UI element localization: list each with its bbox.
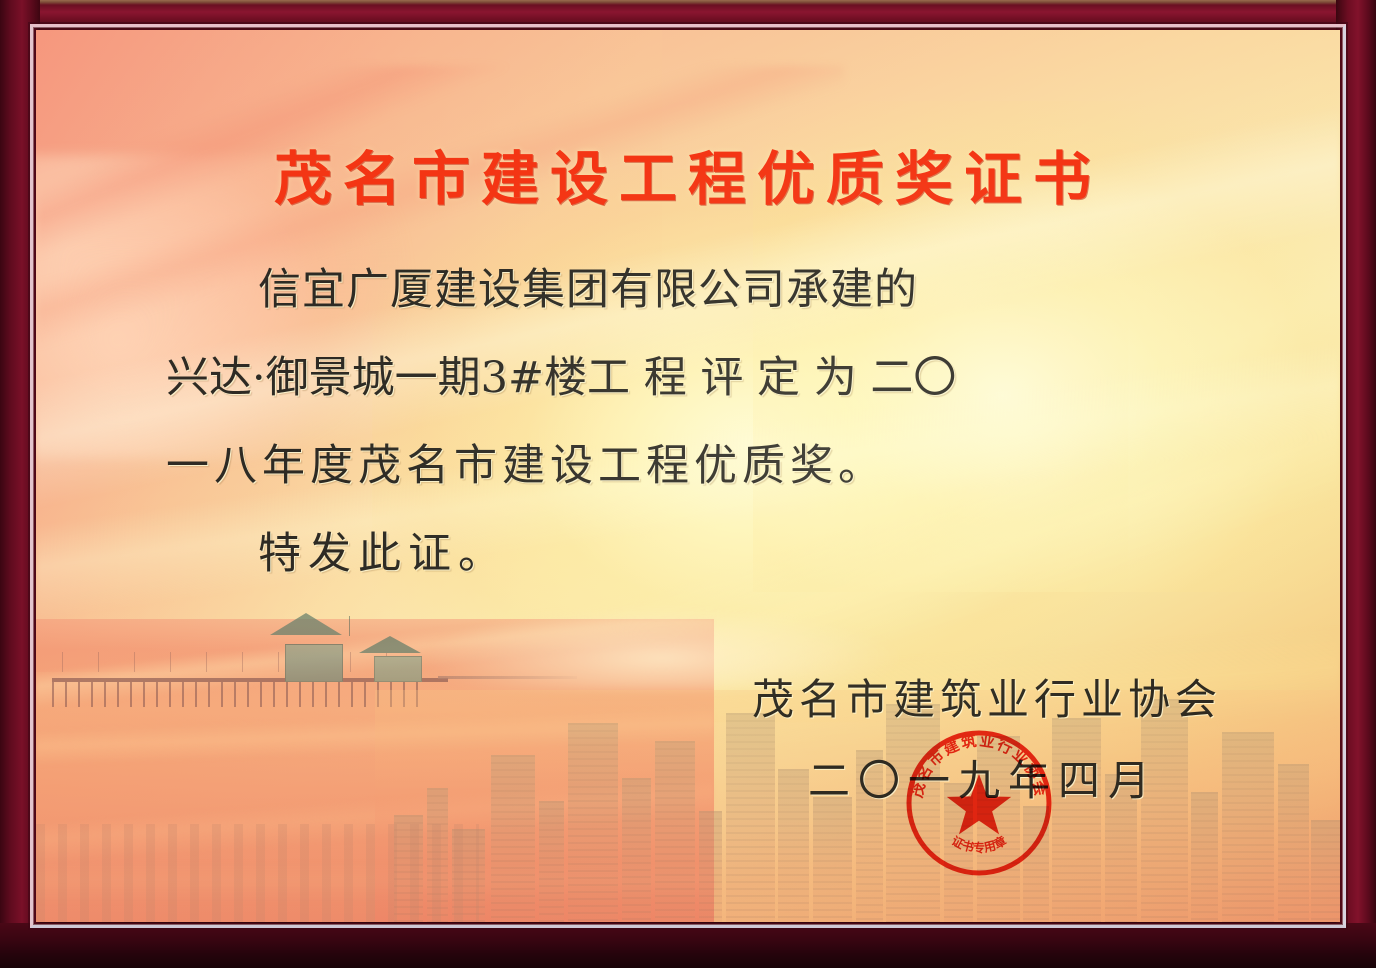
certificate-plaque: 茂名市建设工程优质奖证书 信宜广厦建设集团有限公司承建的 兴达·御景城一期3#楼…	[0, 0, 1376, 968]
certificate-face: 茂名市建设工程优质奖证书 信宜广厦建设集团有限公司承建的 兴达·御景城一期3#楼…	[36, 30, 1340, 922]
certificate-body: 信宜广厦建设集团有限公司承建的 兴达·御景城一期3#楼工 程 评 定 为 二〇 …	[166, 246, 1220, 598]
body-line-1: 信宜广厦建设集团有限公司承建的	[166, 246, 1220, 334]
signature-block: 茂名市建筑业行业协会 二〇一九年四月	[752, 666, 1222, 808]
issuing-organization: 茂名市建筑业行业协会	[752, 666, 1222, 727]
issue-date: 二〇一九年四月	[752, 747, 1222, 808]
body-line-3: 一八年度茂名市建设工程优质奖。	[166, 422, 1220, 510]
certificate-title: 茂名市建设工程优质奖证书	[36, 132, 1340, 216]
body-line-4: 特发此证。	[166, 510, 1220, 598]
certificate-text-layer: 茂名市建设工程优质奖证书 信宜广厦建设集团有限公司承建的 兴达·御景城一期3#楼…	[36, 30, 1340, 922]
frame-bottom-edge	[0, 923, 1376, 968]
body-line-2: 兴达·御景城一期3#楼工 程 评 定 为 二〇	[166, 334, 1220, 422]
